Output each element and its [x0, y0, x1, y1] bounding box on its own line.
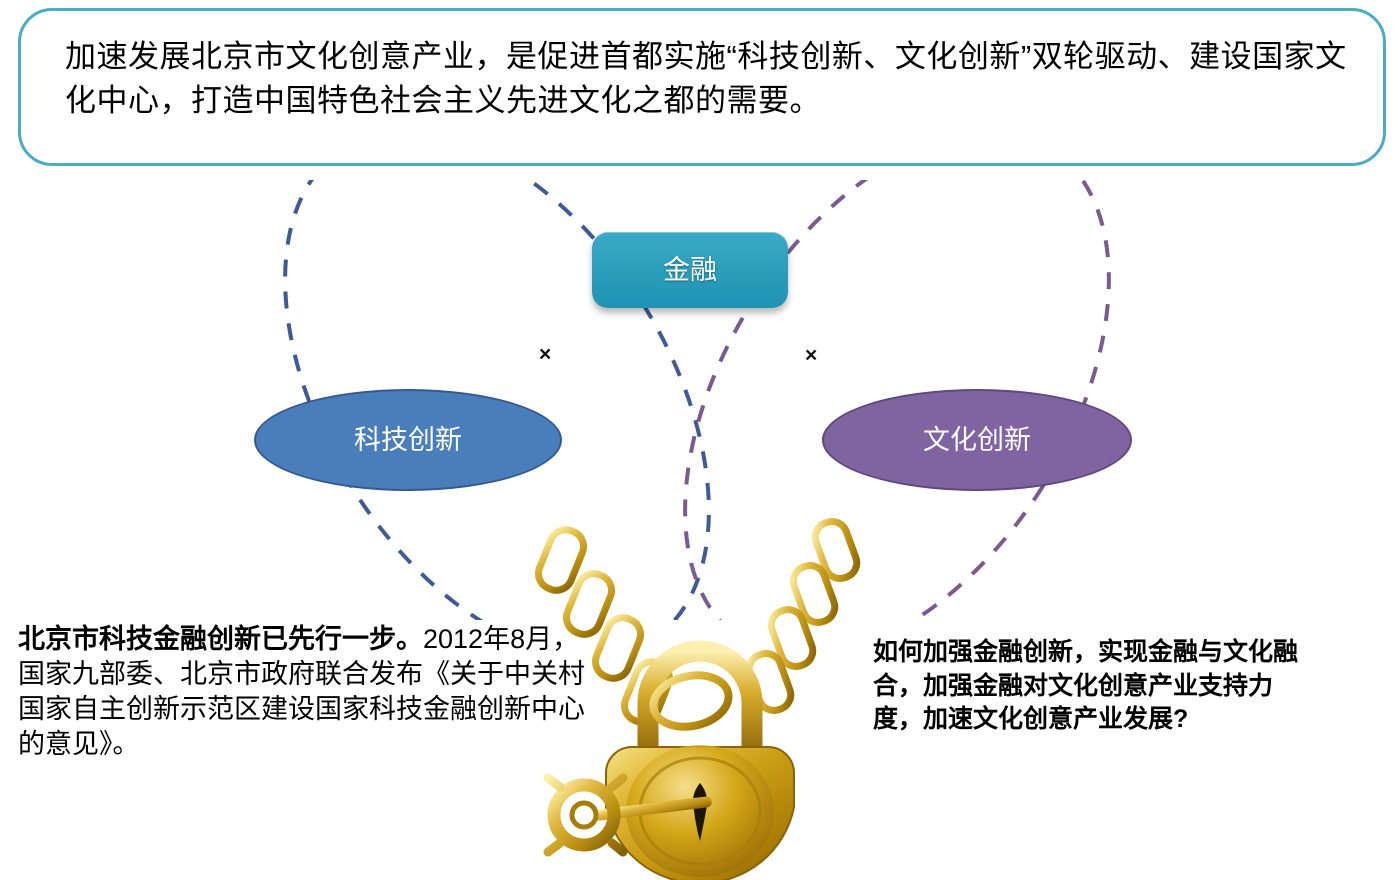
culture-innovation-label: 文化创新: [923, 427, 1031, 454]
right-note: 如何加强金融创新，实现金融与文化融合，加强金融对文化创意产业支持力度，加速文化创…: [873, 636, 1318, 737]
finance-node[interactable]: 金融: [592, 232, 788, 308]
tech-innovation-label: 科技创新: [354, 427, 462, 454]
multiply-icon-right: ×: [805, 345, 817, 366]
culture-innovation-node[interactable]: 文化创新: [822, 389, 1132, 491]
chain-right: [745, 517, 861, 714]
left-note: 北京市科技金融创新已先行一步。2012年8月，国家九部委、北京市政府联合发布《关…: [18, 622, 598, 762]
slide-canvas: 加速发展北京市文化创意产业，是促进首都实施“科技创新、文化创新”双轮驱动、建设国…: [0, 0, 1398, 880]
header-callout-box: 加速发展北京市文化创意产业，是促进首都实施“科技创新、文化创新”双轮驱动、建设国…: [18, 8, 1386, 166]
multiply-icon-left: ×: [539, 344, 551, 365]
tech-innovation-node[interactable]: 科技创新: [254, 389, 562, 491]
left-note-lead: 北京市科技金融创新已先行一步。: [18, 624, 423, 654]
header-text: 加速发展北京市文化创意产业，是促进首都实施“科技创新、文化创新”双轮驱动、建设国…: [65, 35, 1355, 123]
finance-node-label: 金融: [663, 257, 717, 284]
